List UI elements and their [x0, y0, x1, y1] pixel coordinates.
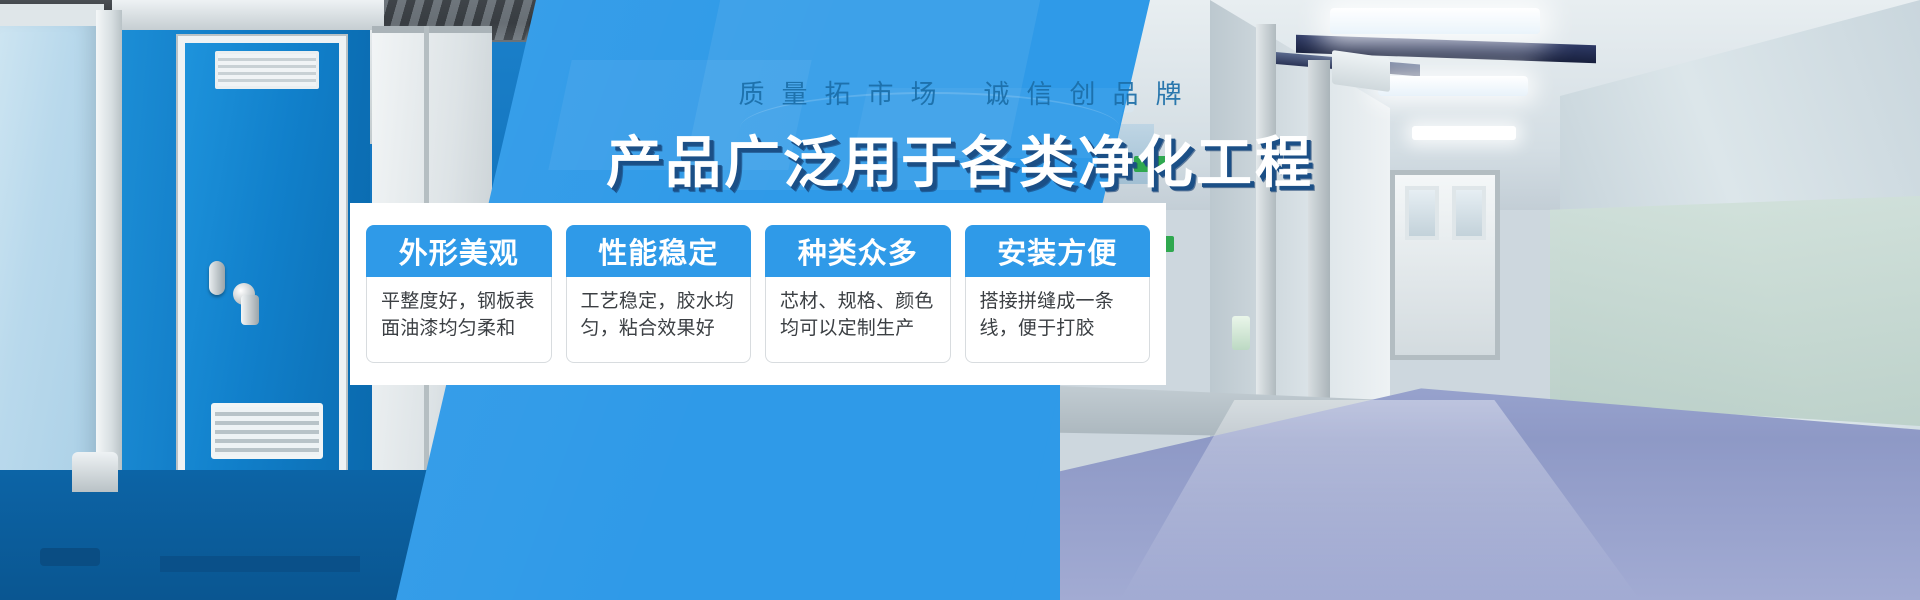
feature-card-body: 工艺稳定，胶水均匀，粘合效果好: [566, 277, 752, 363]
feature-card[interactable]: 外形美观 平整度好，钢板表面油漆均匀柔和: [366, 225, 552, 363]
door-lock: [241, 295, 259, 325]
feature-card-title: 性能稳定: [566, 225, 752, 277]
feature-card-title: 外形美观: [366, 225, 552, 277]
blue-cabin-roof: [112, 0, 384, 30]
feature-cards-panel: 外形美观 平整度好，钢板表面油漆均匀柔和 性能稳定 工艺稳定，胶水均匀，粘合效果…: [350, 203, 1166, 385]
door-bottom-vent: [211, 403, 323, 459]
ceiling-light-1: [1330, 8, 1540, 34]
feature-card[interactable]: 种类众多 芯材、规格、颜色均可以定制生产: [765, 225, 951, 363]
glass-cabin-top: [0, 4, 104, 26]
feature-card-body: 平整度好，钢板表面油漆均匀柔和: [366, 277, 552, 363]
feature-card-body: 搭接拼缝成一条线，便于打胶: [965, 277, 1151, 363]
feature-card-body: 芯材、规格、颜色均可以定制生产: [765, 277, 951, 363]
floor-bottle: [1232, 316, 1250, 350]
corridor-wall-green: [1550, 196, 1920, 426]
feature-card-title: 安装方便: [965, 225, 1151, 277]
cabin-foot-right: [160, 556, 360, 572]
promo-banner: 质量拓市场诚信创品牌 产品广泛用于各类净化工程 外形美观 平整度好，钢板表面油漆…: [0, 0, 1920, 600]
tagline-part-1: 质量拓市场: [738, 79, 953, 109]
white-unit-edge: [372, 26, 492, 33]
banner-headline: 产品广泛用于各类净化工程: [0, 118, 1920, 199]
floor-object: [72, 452, 118, 492]
feature-card[interactable]: 安装方便 搭接拼缝成一条线，便于打胶: [965, 225, 1151, 363]
feature-card[interactable]: 性能稳定 工艺稳定，胶水均匀，粘合效果好: [566, 225, 752, 363]
door-handle: [209, 261, 225, 295]
feature-card-title: 种类众多: [765, 225, 951, 277]
cabin-foot-left: [40, 548, 100, 566]
banner-tagline: 质量拓市场诚信创品牌: [0, 74, 1920, 111]
tagline-part-2: 诚信创品牌: [984, 79, 1199, 109]
